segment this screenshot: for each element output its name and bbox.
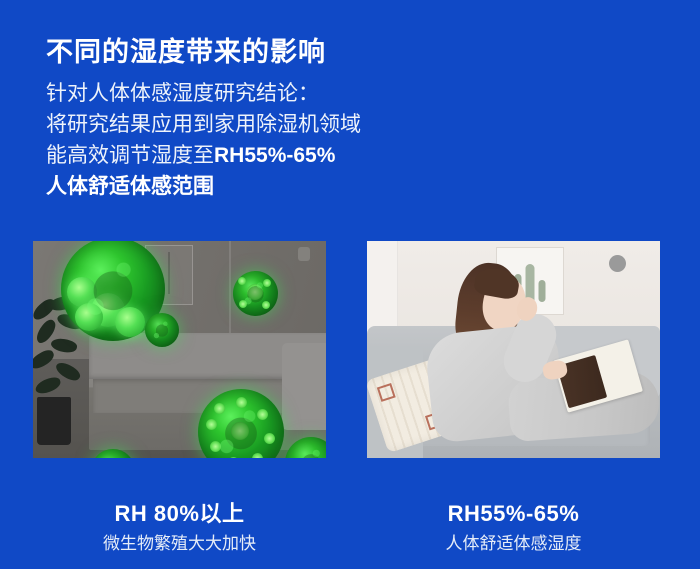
microbe-sphere-small bbox=[145, 313, 179, 347]
caption-comfort-humidity: RH55%-65% 人体舒适体感湿度 bbox=[367, 500, 660, 557]
caption-title: RH55%-65% bbox=[367, 500, 660, 528]
dark-sofa-arm bbox=[282, 343, 326, 430]
microbe-spike bbox=[238, 277, 246, 285]
panel-high-humidity-image bbox=[33, 241, 326, 458]
microbe-spike bbox=[236, 397, 247, 408]
microbe-spike bbox=[206, 419, 217, 430]
woman-reading bbox=[413, 257, 649, 447]
framed-plant-sketch-icon bbox=[169, 252, 170, 294]
plant-pot bbox=[37, 397, 71, 445]
microbe-spike bbox=[210, 441, 221, 452]
microbe-core bbox=[247, 284, 263, 300]
microbe-cell bbox=[115, 307, 145, 337]
caption-subtitle: 微生物繁殖大大加快 bbox=[33, 531, 326, 557]
microbe-spike bbox=[262, 301, 270, 309]
microbe-spike bbox=[252, 453, 263, 458]
pillow-motif bbox=[377, 383, 396, 402]
intro-line-2: 将研究结果应用到家用除湿机领域 bbox=[46, 109, 361, 140]
plant-leaf bbox=[50, 336, 78, 355]
microbe-spike bbox=[263, 279, 271, 287]
intro-line-3: 能高效调节湿度至RH55%-65% bbox=[46, 140, 361, 171]
microbe-spike bbox=[264, 433, 275, 444]
microbe-cell bbox=[75, 303, 103, 331]
plant-leaf bbox=[33, 348, 57, 372]
microbe-cell bbox=[67, 277, 97, 307]
intro-line-4: 人体舒适体感范围 bbox=[46, 171, 361, 202]
dark-room-scene bbox=[33, 241, 326, 458]
microbe-core bbox=[231, 422, 249, 440]
panel-comfort-humidity-image bbox=[367, 241, 660, 458]
microbe-spike bbox=[239, 300, 247, 308]
microbe-spike bbox=[228, 457, 239, 458]
intro-paragraph: 针对人体体感湿度研究结论： 将研究结果应用到家用除湿机领域 能高效调节湿度至RH… bbox=[46, 78, 361, 202]
caption-high-humidity: RH 80%以上 微生物繁殖大大加快 bbox=[33, 500, 326, 557]
plant-leaf bbox=[34, 375, 63, 395]
bright-room-scene bbox=[367, 241, 660, 458]
microbe-sphere-low bbox=[91, 449, 135, 458]
microbe-spike bbox=[257, 409, 268, 420]
microbe-cell bbox=[91, 293, 125, 327]
page-title: 不同的湿度带来的影响 bbox=[46, 36, 326, 70]
intro-line-3-prefix: 能高效调节湿度至 bbox=[46, 144, 214, 167]
wall-switch-icon bbox=[298, 247, 310, 261]
microbe-spike bbox=[214, 403, 225, 414]
intro-line-1: 针对人体体感湿度研究结论： bbox=[46, 78, 361, 109]
microbe-sphere-top bbox=[233, 271, 278, 316]
intro-line-3-humidity-range: RH55%-65% bbox=[214, 144, 335, 167]
caption-subtitle: 人体舒适体感湿度 bbox=[367, 531, 660, 557]
caption-title: RH 80%以上 bbox=[33, 500, 326, 528]
